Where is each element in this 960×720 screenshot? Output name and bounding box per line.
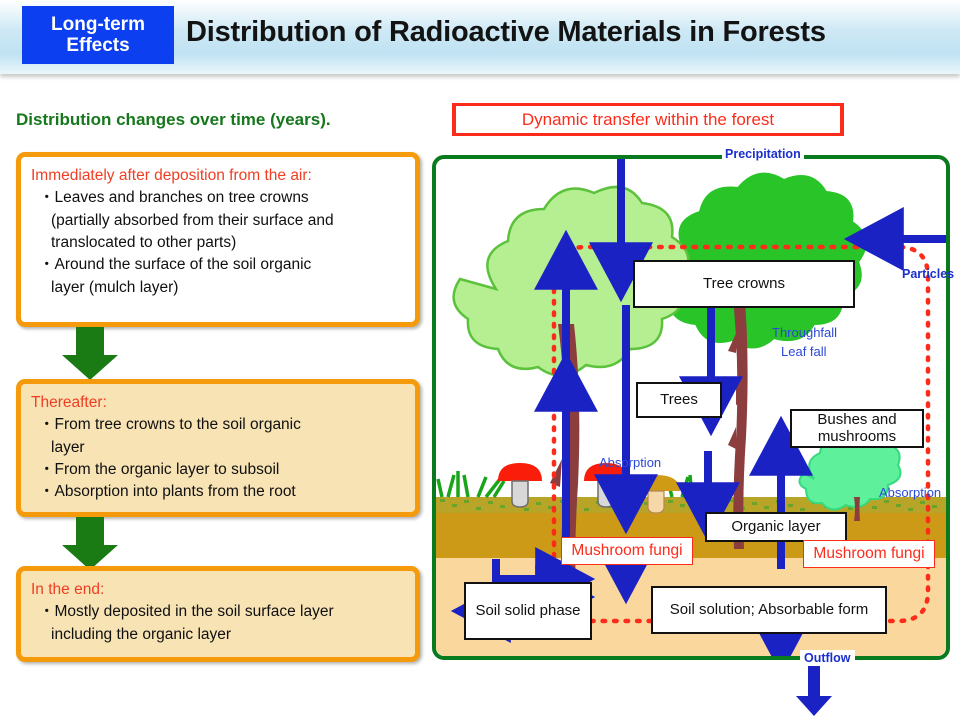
panel-heading: Thereafter: — [31, 394, 107, 411]
box-soil-solid-phase[interactable]: Soil solid phase — [464, 582, 592, 640]
label-precipitation: Precipitation — [722, 147, 804, 161]
box-trees-label: Trees — [660, 392, 698, 409]
flow-arrow-down-1 — [60, 327, 120, 386]
label-absorption-left: Absorption — [599, 455, 661, 470]
box-trees[interactable]: Trees — [636, 382, 722, 418]
header-badge-line1: Long-term — [51, 14, 145, 35]
label-leaf-fall: Leaf fall — [781, 344, 827, 359]
left-subtitle: Distribution changes over time (years). — [16, 110, 331, 130]
panel-bullet: ・From the organic layer to subsoil — [31, 459, 405, 481]
label-particles: Particles — [902, 267, 954, 281]
box-organic-layer[interactable]: Organic layer — [705, 512, 847, 542]
box-organic-layer-label: Organic layer — [731, 519, 820, 536]
panel-bullet: translocated to other parts) — [31, 232, 405, 254]
dynamic-transfer-banner-label: Dynamic transfer within the forest — [522, 110, 774, 130]
panel-bullet: layer (mulch layer) — [31, 277, 405, 299]
box-tree-crowns[interactable]: Tree crowns — [633, 260, 855, 308]
box-mushroom-fungi-left[interactable]: Mushroom fungi — [561, 537, 693, 565]
panel-bullet: ・Absorption into plants from the root — [31, 481, 405, 503]
box-tree-crowns-label: Tree crowns — [703, 276, 785, 293]
panel-bullet: ・Leaves and branches on tree crowns — [31, 187, 405, 209]
panel-in-the-end: In the end: ・Mostly deposited in the soi… — [16, 566, 420, 662]
box-soil-solution-label: Soil solution; Absorbable form — [670, 602, 868, 619]
box-mushroom-fungi-left-label: Mushroom fungi — [571, 542, 682, 560]
panel-bullet: layer — [31, 437, 405, 459]
box-mushroom-fungi-right[interactable]: Mushroom fungi — [803, 540, 935, 568]
page-title: Distribution of Radioactive Materials in… — [186, 16, 946, 49]
box-soil-solid-phase-label: Soil solid phase — [475, 603, 580, 620]
header-badge: Long-term Effects — [22, 6, 174, 64]
panel-thereafter: Thereafter: ・From tree crowns to the soi… — [16, 379, 420, 517]
label-throughfall: Throughfall — [772, 325, 837, 340]
label-absorption-right: Absorption — [879, 485, 941, 500]
panel-heading: In the end: — [31, 581, 104, 598]
panel-immediately-after-deposition: Immediately after deposition from the ai… — [16, 152, 420, 327]
box-bushes-line2: mushrooms — [818, 429, 896, 446]
box-bushes-and-mushrooms[interactable]: Bushes and mushrooms — [790, 409, 924, 448]
label-outflow: Outflow — [800, 650, 855, 666]
header-badge-line2: Effects — [66, 35, 129, 56]
outflow-arrow — [792, 660, 852, 718]
panel-bullet: ・From tree crowns to the soil organic — [31, 414, 405, 436]
panel-bullet: (partially absorbed from their surface a… — [31, 210, 405, 232]
dynamic-transfer-banner: Dynamic transfer within the forest — [452, 103, 844, 136]
panel-bullet: ・Around the surface of the soil organic — [31, 254, 405, 276]
panel-bullet: ・Mostly deposited in the soil surface la… — [31, 601, 405, 623]
box-bushes-line1: Bushes and — [817, 412, 896, 429]
box-soil-solution[interactable]: Soil solution; Absorbable form — [651, 586, 887, 634]
panel-bullet: including the organic layer — [31, 624, 405, 646]
box-mushroom-fungi-right-label: Mushroom fungi — [813, 545, 924, 563]
panel-heading: Immediately after deposition from the ai… — [31, 167, 312, 184]
